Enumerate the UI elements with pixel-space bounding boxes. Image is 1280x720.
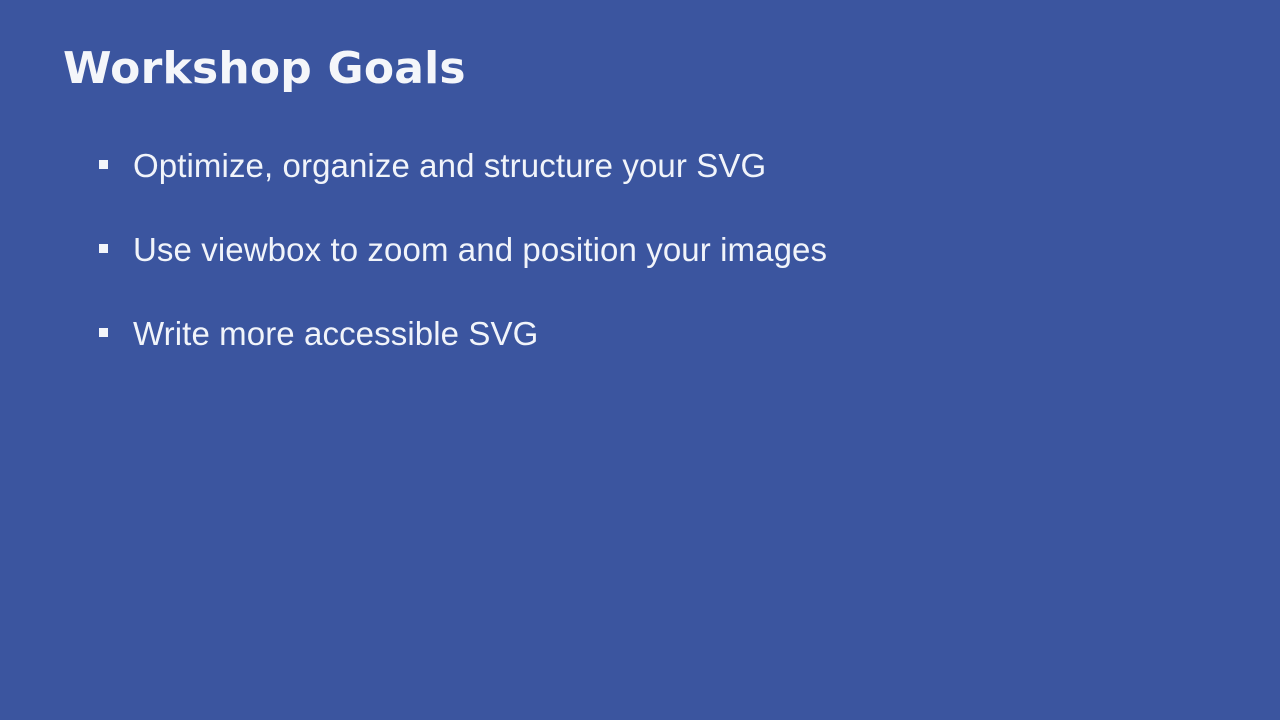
square-bullet-icon bbox=[99, 160, 108, 169]
list-item-label: Use viewbox to zoom and position your im… bbox=[133, 227, 1199, 273]
list-item-label: Optimize, organize and structure your SV… bbox=[133, 143, 1199, 189]
goals-bullet-list: Optimize, organize and structure your SV… bbox=[99, 143, 1199, 357]
square-bullet-icon bbox=[99, 244, 108, 253]
list-item: Optimize, organize and structure your SV… bbox=[99, 143, 1199, 189]
list-item: Use viewbox to zoom and position your im… bbox=[99, 227, 1199, 273]
presentation-slide: Workshop Goals Optimize, organize and st… bbox=[0, 0, 1280, 720]
page-title: Workshop Goals bbox=[63, 44, 466, 93]
list-item-label: Write more accessible SVG bbox=[133, 311, 1199, 357]
list-item: Write more accessible SVG bbox=[99, 311, 1199, 357]
square-bullet-icon bbox=[99, 328, 108, 337]
